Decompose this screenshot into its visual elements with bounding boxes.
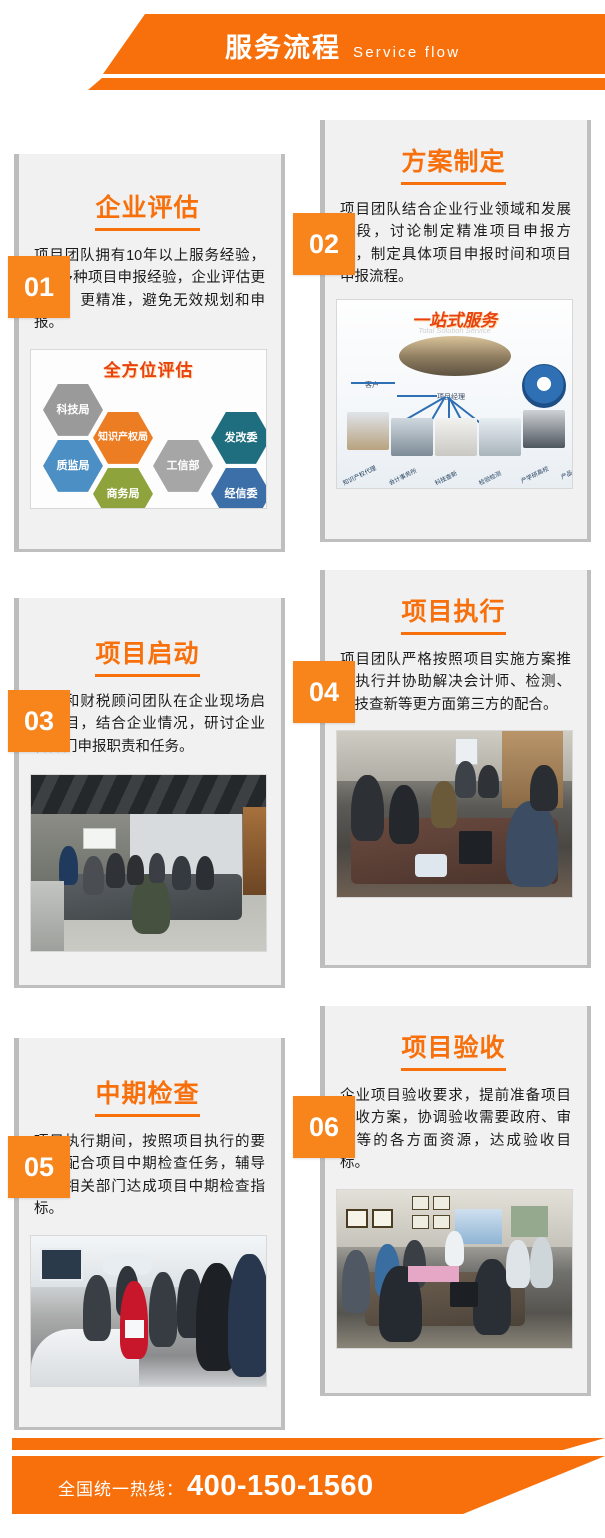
card-01-step-number: 01 [24,272,54,303]
card-05-title-row: 中期检查 [14,1038,281,1117]
card-05-media [30,1235,267,1387]
card-03-step-number: 03 [24,706,54,737]
card-05-step-number: 05 [24,1152,54,1183]
card-01-title: 企业评估 [95,188,199,231]
process-card-02[interactable]: 方案制定 项目团队结合企业行业领域和发展阶段，讨论制定精准项目申报方案，制定具体… [320,120,591,542]
card-02-title: 方案制定 [401,142,505,185]
card-03-title-row: 项目启动 [14,598,281,677]
team-working-at-table-photo [337,731,572,897]
process-card-06[interactable]: 项目验收 企业项目验收要求，提前准备项目验收方案，协调验收需要政府、审计等的各方… [320,1006,591,1396]
hex-label: 经信委 [225,488,258,500]
hex-shangwu-ju: 商务局 [93,468,153,509]
oss-caption-2: 会计事务所 [387,466,418,487]
hex-label: 质监局 [57,460,90,472]
card-03-title: 项目启动 [95,634,199,677]
oss-arrow-2 [397,395,437,397]
conference-room-meeting-photo [31,775,266,951]
card-04-title-row: 项目执行 [320,570,587,635]
card-02-body: 项目团队结合企业行业领域和发展阶段，讨论制定精准项目申报方案，制定具体项目申报时… [320,185,587,289]
oss-thumb-tech-search [435,418,477,456]
card-04-step-badge: 04 [293,661,355,723]
process-card-03[interactable]: 项目启动 项目和财税顾问团队在企业现场启动项目，结合企业情况，研讨企业各部门申报… [14,598,285,988]
oss-thumb-ip-agency [347,412,389,450]
oss-caption-5: 产学研高校 [519,464,550,485]
oss-thumb-accounting [391,418,433,456]
process-card-04[interactable]: 项目执行 项目团队严格按照项目实施方案推动执行并协助解决会计师、检测、科技查新等… [320,570,591,968]
full-assessment-hex-diagram: 全方位评估 科技局 知识产权局 质监局 商务局 工信部 发改委 经信委 [31,350,266,508]
hex-keji-ju: 科技局 [43,384,103,436]
page-footer: 全国统一热线： 400-150-1560 [0,1400,605,1538]
card-01-step-badge: 01 [8,256,70,318]
process-card-05[interactable]: 中期检查 项目执行期间，按照项目执行的要求，配合项目中期检查任务，辅导企业相关部… [14,1038,285,1430]
oss-arrow-1 [351,382,395,384]
page-title: 服务流程 [225,26,341,65]
card-04-body: 项目团队严格按照项目实施方案推动执行并协助解决会计师、检测、科技查新等更方面第三… [320,635,587,716]
oss-caption-1: 知识产权代理 [341,463,377,487]
card-03-step-badge: 03 [8,690,70,752]
card-02-media: 一站式服务 Total Solution Service 客户 项目经理 知 [336,299,573,489]
page-subtitle: Service flow [353,44,460,61]
card-02-step-number: 02 [309,229,339,260]
hex-jingxin-wei: 经信委 [211,468,267,509]
hex-zhijian-ju: 质监局 [43,440,103,492]
card-06-step-badge: 06 [293,1096,355,1158]
oss-subtitle: Total Solution Service [418,326,490,335]
card-03-media [30,774,267,952]
oss-caption-4: 检验检测 [477,468,503,487]
card-02-step-badge: 02 [293,213,355,275]
card-05-step-badge: 05 [8,1136,70,1198]
hex-label: 商务局 [107,488,140,500]
hotline-group: 全国统一热线： 400-150-1560 [58,1470,374,1503]
hex-label: 工信部 [167,460,200,472]
oss-central-photo [399,336,511,376]
showroom-visit-photo [31,1236,266,1386]
card-04-media [336,730,573,898]
hex-label: 科技局 [57,404,90,416]
hex-zhishi-chanquan-ju: 知识产权局 [93,412,153,464]
card-05-title: 中期检查 [95,1074,199,1117]
oss-caption-3: 科技查新 [433,468,459,487]
card-06-title: 项目验收 [401,1028,505,1071]
hotline-label: 全国统一热线： [58,1475,184,1500]
card-06-body: 企业项目验收要求，提前准备项目验收方案，协调验收需要政府、审计等的各方面资源，达… [320,1071,587,1175]
card-04-step-number: 04 [309,677,339,708]
process-card-01[interactable]: 企业评估 项目团队拥有10年以上服务经验，100多种项目申报经验，企业评估更具体… [14,154,285,552]
card-01-title-row: 企业评估 [14,154,281,231]
hex-label: 发改委 [225,432,258,444]
card-06-step-number: 06 [309,1112,339,1143]
card-06-media [336,1189,573,1349]
card-01-media: 全方位评估 科技局 知识产权局 质监局 商务局 工信部 发改委 经信委 [30,349,267,509]
oss-thumb-inspection [479,418,521,456]
one-stop-service-diagram: 一站式服务 Total Solution Service 客户 项目经理 知 [337,300,572,488]
header-accent-stripe [88,78,605,90]
header-title-group: 服务流程 Service flow [225,26,460,65]
card-02-title-row: 方案制定 [320,120,587,185]
page-header: 服务流程 Service flow [0,0,605,108]
acceptance-review-meeting-photo [337,1190,572,1348]
card-04-title: 项目执行 [401,592,505,635]
hex-gongxin-bu: 工信部 [153,440,213,492]
footer-accent-stripe [12,1438,605,1450]
card-06-title-row: 项目验收 [320,1006,587,1071]
hotline-number[interactable]: 400-150-1560 [187,1470,374,1503]
oss-certification-seal-icon [522,364,566,408]
oss-thumb-university [523,410,565,448]
hex-diagram-title: 全方位评估 [104,356,194,381]
hex-fagai-wei: 发改委 [211,412,267,464]
hex-label: 知识产权局 [98,432,148,443]
oss-caption-6: 产品经销厂家 [559,457,573,481]
